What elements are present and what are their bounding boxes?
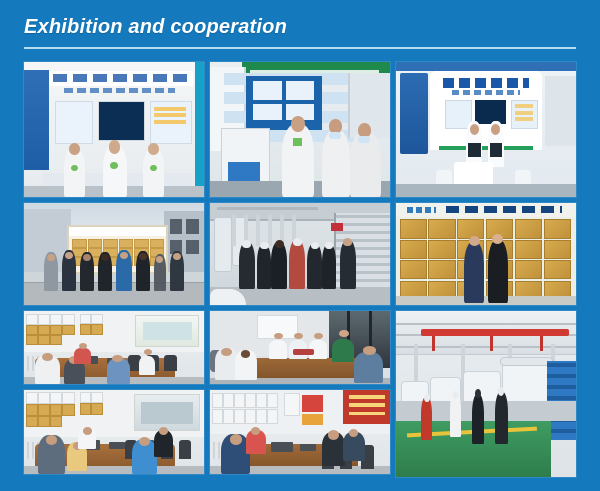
gallery-photo[interactable]: Staff demonstrating water treatment equi…	[210, 62, 390, 197]
gallery-photo[interactable]: White and blue exhibition stand with two…	[396, 62, 576, 197]
gallery-photo[interactable]: Conference room meeting with projector p…	[24, 311, 204, 384]
gallery-photo[interactable]: Two men standing in front of a wall of g…	[396, 203, 576, 305]
gallery-photo[interactable]: Staff working at laptops along the offic…	[210, 390, 390, 474]
gallery-photo[interactable]: Company exhibition booth with three staf…	[24, 62, 204, 197]
exhibition-cooperation-page: Exhibition and cooperation	[0, 0, 600, 491]
title-underline-rule	[24, 47, 576, 49]
gallery-photo[interactable]: Customers inspecting cooling tower units…	[396, 311, 576, 477]
gallery-photo[interactable]: Team discussion in the meeting room with…	[24, 390, 204, 474]
gallery-photo[interactable]: Delegation wearing safety helmets tourin…	[210, 203, 390, 305]
gallery-photo[interactable]: Business negotiation around a long confe…	[210, 311, 390, 384]
page-header: Exhibition and cooperation	[24, 14, 576, 54]
page-title: Exhibition and cooperation	[24, 14, 576, 40]
photo-gallery: Company exhibition booth with three staf…	[24, 62, 576, 477]
gallery-photo[interactable]: Group photo of visiting delegation in fr…	[24, 203, 204, 305]
